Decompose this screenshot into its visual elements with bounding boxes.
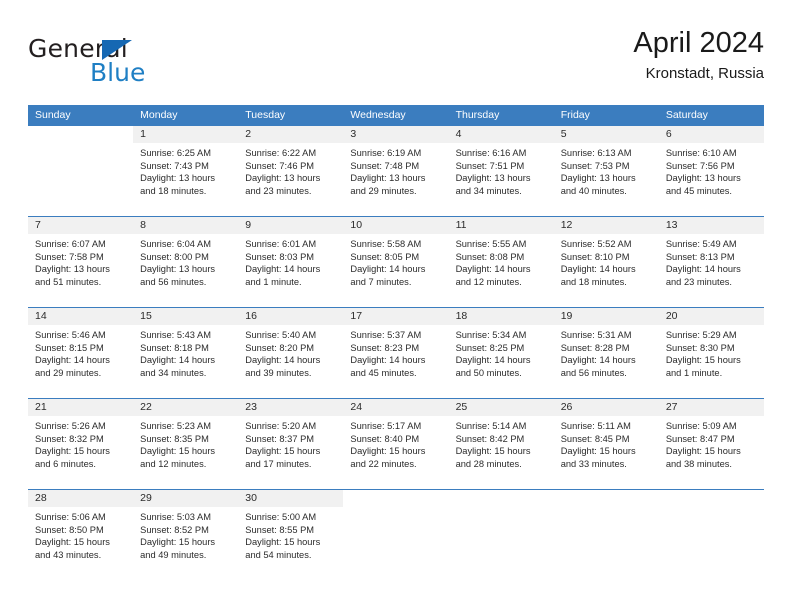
sunrise-time: Sunrise: 5:43 AM <box>140 329 231 342</box>
day-cell-empty <box>28 126 133 216</box>
day-cell[interactable]: 18Sunrise: 5:34 AMSunset: 8:25 PMDayligh… <box>449 308 554 398</box>
daylight-duration-line2: and 29 minutes. <box>350 185 441 198</box>
sunset-time: Sunset: 8:15 PM <box>35 342 126 355</box>
title-block: April 2024 Kronstadt, Russia <box>633 26 764 85</box>
day-cell-empty <box>343 490 448 580</box>
daylight-duration-line1: Daylight: 15 hours <box>561 445 652 458</box>
weekday-header-row: SundayMondayTuesdayWednesdayThursdayFrid… <box>28 105 764 126</box>
day-cell[interactable]: 29Sunrise: 5:03 AMSunset: 8:52 PMDayligh… <box>133 490 238 580</box>
day-cell[interactable]: 12Sunrise: 5:52 AMSunset: 8:10 PMDayligh… <box>554 217 659 307</box>
daylight-duration-line1: Daylight: 13 hours <box>561 172 652 185</box>
daylight-duration-line1: Daylight: 14 hours <box>456 263 547 276</box>
daylight-duration-line1: Daylight: 15 hours <box>35 536 126 549</box>
day-cell[interactable]: 20Sunrise: 5:29 AMSunset: 8:30 PMDayligh… <box>659 308 764 398</box>
day-details: Sunrise: 5:34 AMSunset: 8:25 PMDaylight:… <box>449 325 554 379</box>
daylight-duration-line1: Daylight: 14 hours <box>245 263 336 276</box>
daylight-duration-line1: Daylight: 14 hours <box>561 263 652 276</box>
sunrise-time: Sunrise: 6:13 AM <box>561 147 652 160</box>
daylight-duration-line2: and 12 minutes. <box>140 458 231 471</box>
daylight-duration-line2: and 45 minutes. <box>666 185 757 198</box>
day-cell[interactable]: 23Sunrise: 5:20 AMSunset: 8:37 PMDayligh… <box>238 399 343 489</box>
logo-triangle-icon <box>102 40 132 60</box>
calendar-grid: SundayMondayTuesdayWednesdayThursdayFrid… <box>28 105 764 580</box>
day-number: 23 <box>238 399 343 416</box>
day-number-band: 26 <box>554 399 659 416</box>
day-cell[interactable]: 5Sunrise: 6:13 AMSunset: 7:53 PMDaylight… <box>554 126 659 216</box>
day-number: 3 <box>343 126 448 143</box>
day-number-band: 12 <box>554 217 659 234</box>
day-details: Sunrise: 5:58 AMSunset: 8:05 PMDaylight:… <box>343 234 448 288</box>
sunset-time: Sunset: 8:08 PM <box>456 251 547 264</box>
day-details: Sunrise: 5:46 AMSunset: 8:15 PMDaylight:… <box>28 325 133 379</box>
sunset-time: Sunset: 8:23 PM <box>350 342 441 355</box>
day-number: 29 <box>133 490 238 507</box>
day-number-band: 7 <box>28 217 133 234</box>
day-number-band: 2 <box>238 126 343 143</box>
sunset-time: Sunset: 7:58 PM <box>35 251 126 264</box>
sunrise-time: Sunrise: 6:19 AM <box>350 147 441 160</box>
sunrise-time: Sunrise: 5:55 AM <box>456 238 547 251</box>
day-number-band: 10 <box>343 217 448 234</box>
day-details: Sunrise: 5:06 AMSunset: 8:50 PMDaylight:… <box>28 507 133 561</box>
day-cell[interactable]: 8Sunrise: 6:04 AMSunset: 8:00 PMDaylight… <box>133 217 238 307</box>
day-number-band: 30 <box>238 490 343 507</box>
day-number-band: 1 <box>133 126 238 143</box>
sunset-time: Sunset: 7:46 PM <box>245 160 336 173</box>
sunrise-time: Sunrise: 5:49 AM <box>666 238 757 251</box>
weekday-header-tuesday: Tuesday <box>238 105 343 126</box>
daylight-duration-line2: and 38 minutes. <box>666 458 757 471</box>
day-number-band: 28 <box>28 490 133 507</box>
week-inner: 7Sunrise: 6:07 AMSunset: 7:58 PMDaylight… <box>28 217 764 307</box>
day-details: Sunrise: 5:11 AMSunset: 8:45 PMDaylight:… <box>554 416 659 470</box>
sunset-time: Sunset: 8:35 PM <box>140 433 231 446</box>
sunrise-time: Sunrise: 5:14 AM <box>456 420 547 433</box>
day-details: Sunrise: 5:40 AMSunset: 8:20 PMDaylight:… <box>238 325 343 379</box>
day-cell[interactable]: 22Sunrise: 5:23 AMSunset: 8:35 PMDayligh… <box>133 399 238 489</box>
daylight-duration-line1: Daylight: 14 hours <box>561 354 652 367</box>
week-inner: 14Sunrise: 5:46 AMSunset: 8:15 PMDayligh… <box>28 308 764 398</box>
day-details: Sunrise: 6:16 AMSunset: 7:51 PMDaylight:… <box>449 143 554 197</box>
daylight-duration-line2: and 18 minutes. <box>561 276 652 289</box>
general-blue-logo[interactable]: General Blue <box>28 34 288 90</box>
day-details: Sunrise: 6:22 AMSunset: 7:46 PMDaylight:… <box>238 143 343 197</box>
day-number: 1 <box>133 126 238 143</box>
daylight-duration-line2: and 50 minutes. <box>456 367 547 380</box>
day-number-band: 16 <box>238 308 343 325</box>
day-number-band: 21 <box>28 399 133 416</box>
day-number: 7 <box>28 217 133 234</box>
day-number: 14 <box>28 308 133 325</box>
sunset-time: Sunset: 8:30 PM <box>666 342 757 355</box>
sunset-time: Sunset: 8:28 PM <box>561 342 652 355</box>
day-number: 22 <box>133 399 238 416</box>
sunrise-time: Sunrise: 5:20 AM <box>245 420 336 433</box>
day-details <box>449 507 554 511</box>
weekday-header-monday: Monday <box>133 105 238 126</box>
daylight-duration-line2: and 28 minutes. <box>456 458 547 471</box>
sunset-time: Sunset: 7:53 PM <box>561 160 652 173</box>
day-details: Sunrise: 6:10 AMSunset: 7:56 PMDaylight:… <box>659 143 764 197</box>
day-details: Sunrise: 5:52 AMSunset: 8:10 PMDaylight:… <box>554 234 659 288</box>
day-cell[interactable]: 14Sunrise: 5:46 AMSunset: 8:15 PMDayligh… <box>28 308 133 398</box>
day-number: 10 <box>343 217 448 234</box>
day-cell[interactable]: 28Sunrise: 5:06 AMSunset: 8:50 PMDayligh… <box>28 490 133 580</box>
day-number-band: 3 <box>343 126 448 143</box>
sunrise-time: Sunrise: 5:11 AM <box>561 420 652 433</box>
sunset-time: Sunset: 8:00 PM <box>140 251 231 264</box>
day-number-band: 24 <box>343 399 448 416</box>
daylight-duration-line1: Daylight: 15 hours <box>350 445 441 458</box>
sunset-time: Sunset: 8:47 PM <box>666 433 757 446</box>
sunset-time: Sunset: 8:20 PM <box>245 342 336 355</box>
calendar-page: General Blue April 2024 Kronstadt, Russi… <box>0 0 792 612</box>
daylight-duration-line2: and 51 minutes. <box>35 276 126 289</box>
sunrise-time: Sunrise: 5:46 AM <box>35 329 126 342</box>
sunrise-time: Sunrise: 5:52 AM <box>561 238 652 251</box>
day-details: Sunrise: 6:25 AMSunset: 7:43 PMDaylight:… <box>133 143 238 197</box>
sunset-time: Sunset: 8:45 PM <box>561 433 652 446</box>
daylight-duration-line2: and 56 minutes. <box>561 367 652 380</box>
day-number: 4 <box>449 126 554 143</box>
daylight-duration-line1: Daylight: 15 hours <box>666 445 757 458</box>
weekday-header-thursday: Thursday <box>449 105 554 126</box>
sunrise-time: Sunrise: 6:16 AM <box>456 147 547 160</box>
day-details: Sunrise: 5:14 AMSunset: 8:42 PMDaylight:… <box>449 416 554 470</box>
weeks-container: 1Sunrise: 6:25 AMSunset: 7:43 PMDaylight… <box>28 126 764 580</box>
day-number-band: 6 <box>659 126 764 143</box>
page-header: General Blue April 2024 Kronstadt, Russi… <box>28 26 764 94</box>
day-details: Sunrise: 6:01 AMSunset: 8:03 PMDaylight:… <box>238 234 343 288</box>
daylight-duration-line2: and 23 minutes. <box>666 276 757 289</box>
sunrise-time: Sunrise: 5:34 AM <box>456 329 547 342</box>
daylight-duration-line1: Daylight: 14 hours <box>350 354 441 367</box>
daylight-duration-line1: Daylight: 15 hours <box>140 445 231 458</box>
daylight-duration-line1: Daylight: 15 hours <box>140 536 231 549</box>
sunrise-time: Sunrise: 6:22 AM <box>245 147 336 160</box>
sunrise-time: Sunrise: 6:10 AM <box>666 147 757 160</box>
day-number: 28 <box>28 490 133 507</box>
day-cell-empty <box>659 490 764 580</box>
day-number: 19 <box>554 308 659 325</box>
day-number-band: 4 <box>449 126 554 143</box>
sunrise-time: Sunrise: 6:25 AM <box>140 147 231 160</box>
week-inner: 21Sunrise: 5:26 AMSunset: 8:32 PMDayligh… <box>28 399 764 489</box>
daylight-duration-line2: and 22 minutes. <box>350 458 441 471</box>
day-cell[interactable]: 3Sunrise: 6:19 AMSunset: 7:48 PMDaylight… <box>343 126 448 216</box>
day-details <box>28 143 133 147</box>
daylight-duration-line1: Daylight: 14 hours <box>35 354 126 367</box>
sunrise-time: Sunrise: 6:04 AM <box>140 238 231 251</box>
daylight-duration-line2: and 34 minutes. <box>456 185 547 198</box>
day-number: 11 <box>449 217 554 234</box>
daylight-duration-line2: and 1 minute. <box>666 367 757 380</box>
sunrise-time: Sunrise: 5:17 AM <box>350 420 441 433</box>
day-cell[interactable]: 9Sunrise: 6:01 AMSunset: 8:03 PMDaylight… <box>238 217 343 307</box>
sunset-time: Sunset: 8:25 PM <box>456 342 547 355</box>
sunrise-time: Sunrise: 5:03 AM <box>140 511 231 524</box>
weekday-header-saturday: Saturday <box>659 105 764 126</box>
day-details: Sunrise: 5:20 AMSunset: 8:37 PMDaylight:… <box>238 416 343 470</box>
day-details: Sunrise: 5:31 AMSunset: 8:28 PMDaylight:… <box>554 325 659 379</box>
day-cell-empty <box>449 490 554 580</box>
daylight-duration-line1: Daylight: 15 hours <box>35 445 126 458</box>
daylight-duration-line1: Daylight: 13 hours <box>456 172 547 185</box>
sunrise-time: Sunrise: 5:58 AM <box>350 238 441 251</box>
week-row: 21Sunrise: 5:26 AMSunset: 8:32 PMDayligh… <box>28 398 764 489</box>
day-number-band: 29 <box>133 490 238 507</box>
sunrise-time: Sunrise: 5:37 AM <box>350 329 441 342</box>
sunset-time: Sunset: 7:56 PM <box>666 160 757 173</box>
day-details: Sunrise: 5:29 AMSunset: 8:30 PMDaylight:… <box>659 325 764 379</box>
day-number: 21 <box>28 399 133 416</box>
week-row: 1Sunrise: 6:25 AMSunset: 7:43 PMDaylight… <box>28 126 764 216</box>
daylight-duration-line2: and 23 minutes. <box>245 185 336 198</box>
sunset-time: Sunset: 8:55 PM <box>245 524 336 537</box>
sunset-time: Sunset: 8:52 PM <box>140 524 231 537</box>
sunrise-time: Sunrise: 5:00 AM <box>245 511 336 524</box>
day-number-band <box>659 490 764 507</box>
daylight-duration-line1: Daylight: 13 hours <box>666 172 757 185</box>
sunset-time: Sunset: 8:10 PM <box>561 251 652 264</box>
sunset-time: Sunset: 7:43 PM <box>140 160 231 173</box>
day-details <box>659 507 764 511</box>
daylight-duration-line1: Daylight: 14 hours <box>456 354 547 367</box>
day-number-band: 14 <box>28 308 133 325</box>
day-number-band: 19 <box>554 308 659 325</box>
day-number: 25 <box>449 399 554 416</box>
day-cell[interactable]: 19Sunrise: 5:31 AMSunset: 8:28 PMDayligh… <box>554 308 659 398</box>
daylight-duration-line2: and 17 minutes. <box>245 458 336 471</box>
day-number: 13 <box>659 217 764 234</box>
daylight-duration-line1: Daylight: 13 hours <box>350 172 441 185</box>
day-details: Sunrise: 6:19 AMSunset: 7:48 PMDaylight:… <box>343 143 448 197</box>
day-cell[interactable]: 21Sunrise: 5:26 AMSunset: 8:32 PMDayligh… <box>28 399 133 489</box>
daylight-duration-line1: Daylight: 13 hours <box>35 263 126 276</box>
day-cell[interactable]: 11Sunrise: 5:55 AMSunset: 8:08 PMDayligh… <box>449 217 554 307</box>
week-row: 28Sunrise: 5:06 AMSunset: 8:50 PMDayligh… <box>28 489 764 580</box>
day-number-band <box>343 490 448 507</box>
day-cell[interactable]: 27Sunrise: 5:09 AMSunset: 8:47 PMDayligh… <box>659 399 764 489</box>
sunrise-time: Sunrise: 5:06 AM <box>35 511 126 524</box>
day-details: Sunrise: 5:26 AMSunset: 8:32 PMDaylight:… <box>28 416 133 470</box>
daylight-duration-line2: and 1 minute. <box>245 276 336 289</box>
day-number: 16 <box>238 308 343 325</box>
day-number: 6 <box>659 126 764 143</box>
sunrise-time: Sunrise: 5:09 AM <box>666 420 757 433</box>
day-number-band: 25 <box>449 399 554 416</box>
day-cell[interactable]: 15Sunrise: 5:43 AMSunset: 8:18 PMDayligh… <box>133 308 238 398</box>
daylight-duration-line2: and 33 minutes. <box>561 458 652 471</box>
day-number-band <box>449 490 554 507</box>
daylight-duration-line1: Daylight: 14 hours <box>245 354 336 367</box>
daylight-duration-line1: Daylight: 15 hours <box>245 536 336 549</box>
daylight-duration-line1: Daylight: 13 hours <box>140 172 231 185</box>
day-details: Sunrise: 5:49 AMSunset: 8:13 PMDaylight:… <box>659 234 764 288</box>
day-details: Sunrise: 6:04 AMSunset: 8:00 PMDaylight:… <box>133 234 238 288</box>
daylight-duration-line2: and 7 minutes. <box>350 276 441 289</box>
sunset-time: Sunset: 8:13 PM <box>666 251 757 264</box>
daylight-duration-line1: Daylight: 13 hours <box>245 172 336 185</box>
day-details <box>343 507 448 511</box>
daylight-duration-line2: and 34 minutes. <box>140 367 231 380</box>
day-cell[interactable]: 6Sunrise: 6:10 AMSunset: 7:56 PMDaylight… <box>659 126 764 216</box>
sunrise-time: Sunrise: 5:29 AM <box>666 329 757 342</box>
daylight-duration-line2: and 40 minutes. <box>561 185 652 198</box>
day-number: 9 <box>238 217 343 234</box>
sunrise-time: Sunrise: 5:40 AM <box>245 329 336 342</box>
week-inner: 28Sunrise: 5:06 AMSunset: 8:50 PMDayligh… <box>28 490 764 580</box>
day-number: 20 <box>659 308 764 325</box>
day-number-band: 20 <box>659 308 764 325</box>
weekday-header-friday: Friday <box>554 105 659 126</box>
day-details: Sunrise: 5:00 AMSunset: 8:55 PMDaylight:… <box>238 507 343 561</box>
daylight-duration-line1: Daylight: 14 hours <box>140 354 231 367</box>
weekday-header-wednesday: Wednesday <box>343 105 448 126</box>
day-cell[interactable]: 17Sunrise: 5:37 AMSunset: 8:23 PMDayligh… <box>343 308 448 398</box>
sunset-time: Sunset: 8:05 PM <box>350 251 441 264</box>
logo-text-blue: Blue <box>90 58 145 87</box>
page-subtitle: Kronstadt, Russia <box>633 63 764 85</box>
daylight-duration-line2: and 12 minutes. <box>456 276 547 289</box>
sunset-time: Sunset: 8:37 PM <box>245 433 336 446</box>
day-number: 12 <box>554 217 659 234</box>
day-cell[interactable]: 16Sunrise: 5:40 AMSunset: 8:20 PMDayligh… <box>238 308 343 398</box>
day-number-band: 8 <box>133 217 238 234</box>
day-details: Sunrise: 6:13 AMSunset: 7:53 PMDaylight:… <box>554 143 659 197</box>
day-number: 2 <box>238 126 343 143</box>
day-number-band <box>28 126 133 143</box>
day-details: Sunrise: 5:37 AMSunset: 8:23 PMDaylight:… <box>343 325 448 379</box>
daylight-duration-line2: and 39 minutes. <box>245 367 336 380</box>
day-details: Sunrise: 6:07 AMSunset: 7:58 PMDaylight:… <box>28 234 133 288</box>
day-cell[interactable]: 30Sunrise: 5:00 AMSunset: 8:55 PMDayligh… <box>238 490 343 580</box>
day-number-band: 23 <box>238 399 343 416</box>
daylight-duration-line1: Daylight: 15 hours <box>245 445 336 458</box>
day-cell[interactable]: 2Sunrise: 6:22 AMSunset: 7:46 PMDaylight… <box>238 126 343 216</box>
daylight-duration-line1: Daylight: 14 hours <box>350 263 441 276</box>
day-number: 24 <box>343 399 448 416</box>
daylight-duration-line2: and 29 minutes. <box>35 367 126 380</box>
sunrise-time: Sunrise: 6:01 AM <box>245 238 336 251</box>
daylight-duration-line2: and 45 minutes. <box>350 367 441 380</box>
day-details: Sunrise: 5:43 AMSunset: 8:18 PMDaylight:… <box>133 325 238 379</box>
day-number: 27 <box>659 399 764 416</box>
daylight-duration-line2: and 43 minutes. <box>35 549 126 562</box>
sunset-time: Sunset: 8:03 PM <box>245 251 336 264</box>
day-cell-empty <box>554 490 659 580</box>
week-row: 7Sunrise: 6:07 AMSunset: 7:58 PMDaylight… <box>28 216 764 307</box>
sunset-time: Sunset: 8:32 PM <box>35 433 126 446</box>
day-number-band: 9 <box>238 217 343 234</box>
day-details: Sunrise: 5:09 AMSunset: 8:47 PMDaylight:… <box>659 416 764 470</box>
daylight-duration-line2: and 6 minutes. <box>35 458 126 471</box>
sunset-time: Sunset: 7:48 PM <box>350 160 441 173</box>
day-details: Sunrise: 5:03 AMSunset: 8:52 PMDaylight:… <box>133 507 238 561</box>
day-number-band: 27 <box>659 399 764 416</box>
sunset-time: Sunset: 8:40 PM <box>350 433 441 446</box>
daylight-duration-line2: and 54 minutes. <box>245 549 336 562</box>
daylight-duration-line1: Daylight: 14 hours <box>666 263 757 276</box>
daylight-duration-line1: Daylight: 13 hours <box>140 263 231 276</box>
weekday-header-sunday: Sunday <box>28 105 133 126</box>
page-title: April 2024 <box>633 26 764 60</box>
day-details: Sunrise: 5:23 AMSunset: 8:35 PMDaylight:… <box>133 416 238 470</box>
day-number: 26 <box>554 399 659 416</box>
day-details <box>554 507 659 511</box>
day-number: 18 <box>449 308 554 325</box>
day-number-band <box>554 490 659 507</box>
day-cell[interactable]: 10Sunrise: 5:58 AMSunset: 8:05 PMDayligh… <box>343 217 448 307</box>
day-number-band: 22 <box>133 399 238 416</box>
day-number-band: 13 <box>659 217 764 234</box>
day-cell[interactable]: 25Sunrise: 5:14 AMSunset: 8:42 PMDayligh… <box>449 399 554 489</box>
day-cell[interactable]: 13Sunrise: 5:49 AMSunset: 8:13 PMDayligh… <box>659 217 764 307</box>
sunrise-time: Sunrise: 5:23 AM <box>140 420 231 433</box>
day-cell[interactable]: 24Sunrise: 5:17 AMSunset: 8:40 PMDayligh… <box>343 399 448 489</box>
day-details: Sunrise: 5:17 AMSunset: 8:40 PMDaylight:… <box>343 416 448 470</box>
daylight-duration-line1: Daylight: 15 hours <box>666 354 757 367</box>
week-inner: 1Sunrise: 6:25 AMSunset: 7:43 PMDaylight… <box>28 126 764 216</box>
day-details: Sunrise: 5:55 AMSunset: 8:08 PMDaylight:… <box>449 234 554 288</box>
day-number: 17 <box>343 308 448 325</box>
day-number: 8 <box>133 217 238 234</box>
day-cell[interactable]: 26Sunrise: 5:11 AMSunset: 8:45 PMDayligh… <box>554 399 659 489</box>
day-cell[interactable]: 7Sunrise: 6:07 AMSunset: 7:58 PMDaylight… <box>28 217 133 307</box>
day-cell[interactable]: 1Sunrise: 6:25 AMSunset: 7:43 PMDaylight… <box>133 126 238 216</box>
day-number: 5 <box>554 126 659 143</box>
sunset-time: Sunset: 8:18 PM <box>140 342 231 355</box>
day-cell[interactable]: 4Sunrise: 6:16 AMSunset: 7:51 PMDaylight… <box>449 126 554 216</box>
sunrise-time: Sunrise: 5:26 AM <box>35 420 126 433</box>
day-number-band: 15 <box>133 308 238 325</box>
day-number-band: 18 <box>449 308 554 325</box>
sunrise-time: Sunrise: 6:07 AM <box>35 238 126 251</box>
day-number: 30 <box>238 490 343 507</box>
daylight-duration-line2: and 56 minutes. <box>140 276 231 289</box>
daylight-duration-line1: Daylight: 15 hours <box>456 445 547 458</box>
day-number: 15 <box>133 308 238 325</box>
daylight-duration-line2: and 18 minutes. <box>140 185 231 198</box>
week-row: 14Sunrise: 5:46 AMSunset: 8:15 PMDayligh… <box>28 307 764 398</box>
sunset-time: Sunset: 8:50 PM <box>35 524 126 537</box>
sunrise-time: Sunrise: 5:31 AM <box>561 329 652 342</box>
day-number-band: 11 <box>449 217 554 234</box>
sunset-time: Sunset: 8:42 PM <box>456 433 547 446</box>
daylight-duration-line2: and 49 minutes. <box>140 549 231 562</box>
day-number-band: 17 <box>343 308 448 325</box>
day-number-band: 5 <box>554 126 659 143</box>
sunset-time: Sunset: 7:51 PM <box>456 160 547 173</box>
